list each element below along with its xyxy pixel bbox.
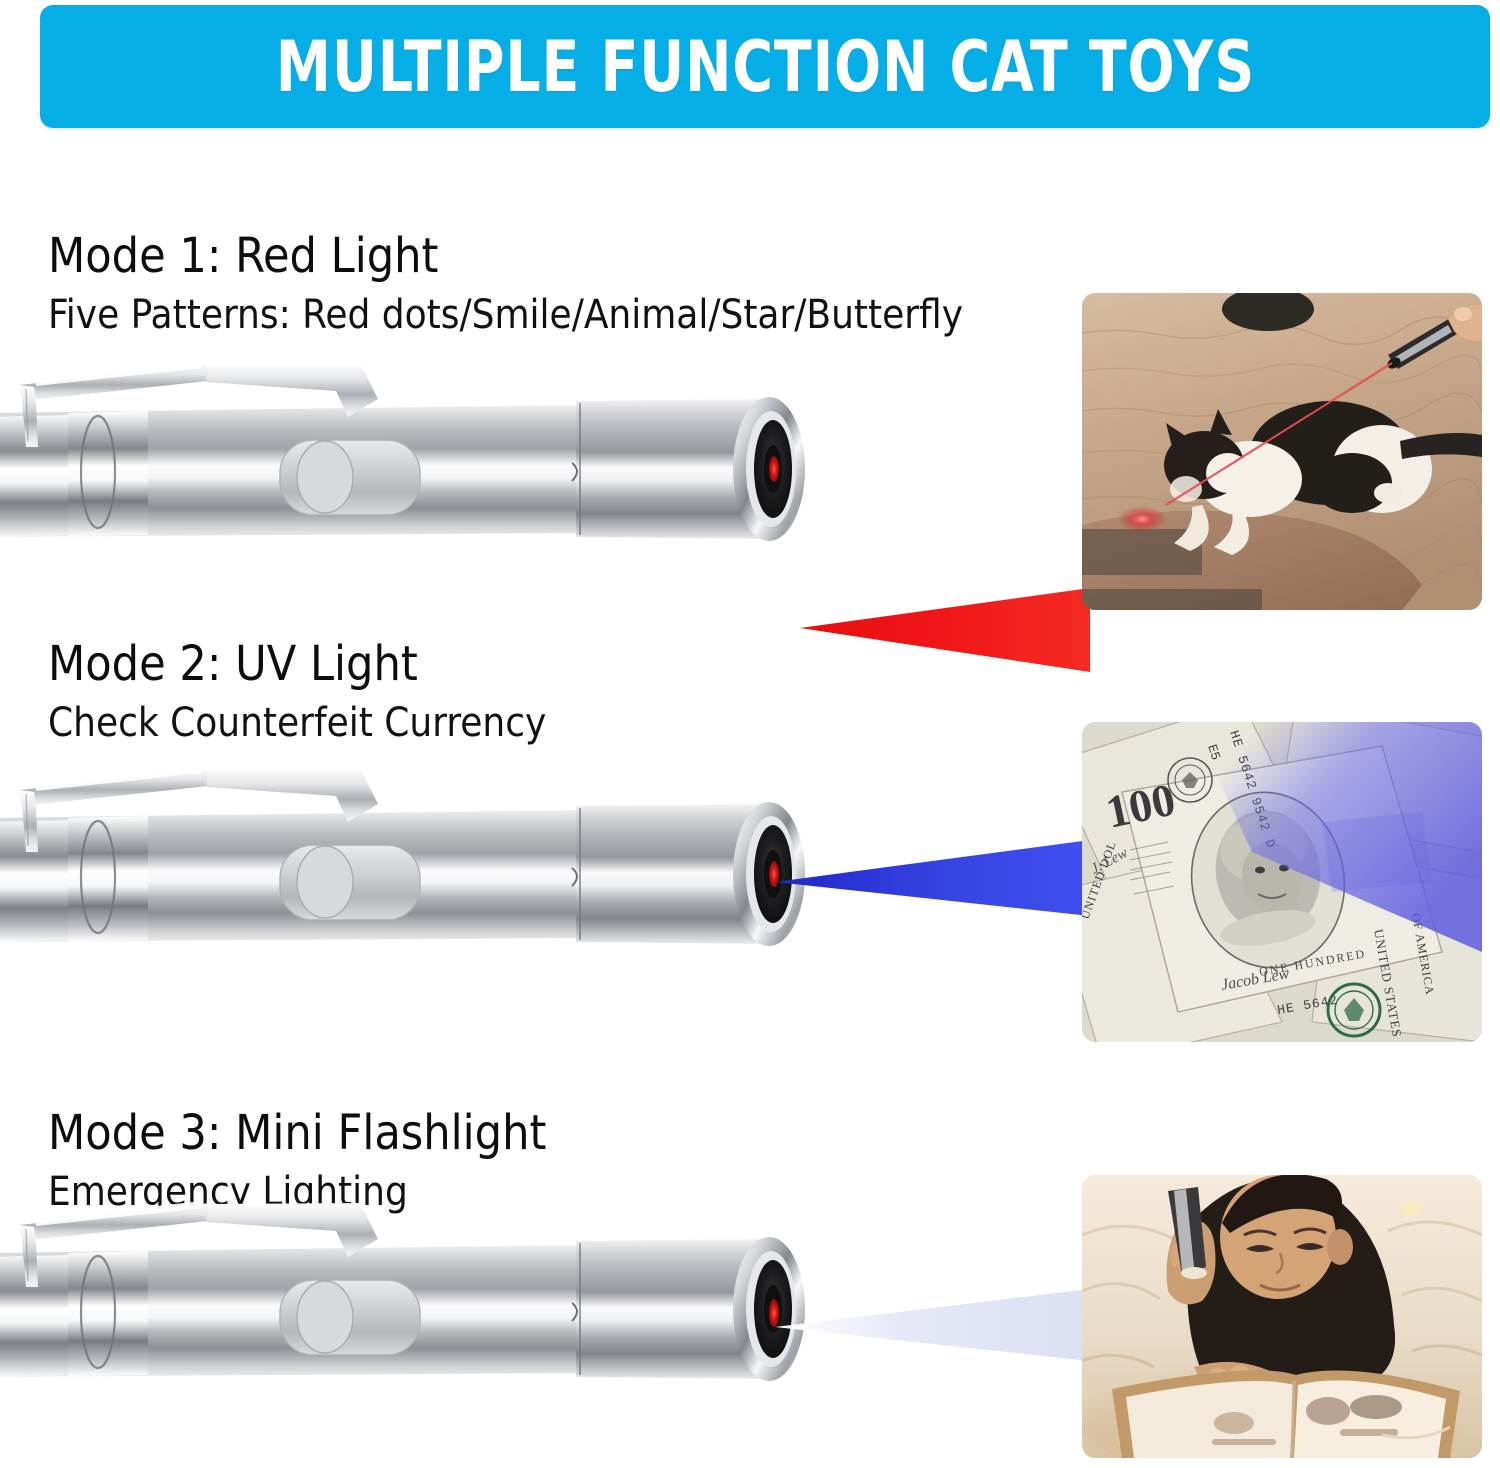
switch-cap[interactable] <box>297 1281 353 1353</box>
uv-watermark-region <box>1322 812 1432 892</box>
boy-photo-scene <box>1082 1175 1482 1458</box>
flashlight-body-group <box>0 1201 805 1381</box>
flashlight-illustration-mode-1 <box>0 355 830 555</box>
white-beam-cone <box>775 1289 1090 1361</box>
franklin-eye-left <box>1255 867 1265 874</box>
cat-chasing-laser-photo <box>1082 293 1482 610</box>
finger <box>1454 307 1472 321</box>
mode-2-text-block: Mode 2: UV Light Check Counterfeit Curre… <box>48 638 546 746</box>
boy-ear <box>1327 1229 1353 1265</box>
header-banner: MULTIPLE FUNCTION CAT TOYS <box>40 5 1490 128</box>
currency-photo-scene: 100 ONE HUNDRED HE 5642 9542 D HE 5642 E… <box>1082 722 1482 1042</box>
blue-beam-cone <box>775 840 1090 916</box>
book-spine <box>1292 1381 1294 1458</box>
mode-3-heading: Mode 3: Mini Flashlight <box>48 1107 546 1161</box>
switch-cap[interactable] <box>297 441 353 513</box>
mode-section-red-light: Mode 1: Red Light Five Patterns: Red dot… <box>0 140 1500 640</box>
floor-edge <box>1082 589 1262 610</box>
mode-2-heading: Mode 2: UV Light <box>48 638 546 692</box>
switch-cap[interactable] <box>297 846 353 918</box>
cat-muzzle <box>1206 453 1250 493</box>
boy-reading-with-flashlight-photo <box>1082 1175 1482 1458</box>
infographic-page: MULTIPLE FUNCTION CAT TOYS <box>0 0 1500 1468</box>
mode-1-subtitle: Five Patterns: Red dots/Smile/Animal/Sta… <box>48 292 963 338</box>
flashlight-illustration-mode-2 <box>0 760 830 960</box>
page-title: MULTIPLE FUNCTION CAT TOYS <box>275 26 1254 108</box>
flashlight-illustration-mode-3 <box>0 1195 830 1395</box>
laser-dot <box>1118 506 1166 532</box>
flashlight-in-hand-lens <box>1181 1267 1207 1279</box>
mode-section-uv-light: Mode 2: UV Light Check Counterfeit Curre… <box>0 615 1500 1085</box>
book-page-left <box>1126 1381 1294 1458</box>
flashlight-body-group <box>0 361 805 541</box>
fairy-light-glow <box>1402 1201 1422 1217</box>
red-led-emitter <box>769 456 779 482</box>
mode-1-heading: Mode 1: Red Light <box>48 230 963 284</box>
flashlight-body-group <box>0 766 805 946</box>
mode-2-subtitle: Check Counterfeit Currency <box>48 700 546 746</box>
mode-section-mini-flashlight: Mode 3: Mini Flashlight Emergency Lighti… <box>0 1085 1500 1468</box>
mode-1-text-block: Mode 1: Red Light Five Patterns: Red dot… <box>48 230 963 338</box>
cat-cheek <box>1170 476 1202 502</box>
cat-hind-paw <box>1374 483 1402 503</box>
cat-photo-scene <box>1082 293 1482 610</box>
white-flashlight-beam <box>775 1285 1090 1405</box>
counterfeit-currency-photo: 100 ONE HUNDRED HE 5642 9542 D HE 5642 E… <box>1082 722 1482 1042</box>
cat-flank-patch <box>1312 453 1392 513</box>
open-book <box>1112 1370 1460 1458</box>
uv-light-beam <box>775 830 1090 950</box>
